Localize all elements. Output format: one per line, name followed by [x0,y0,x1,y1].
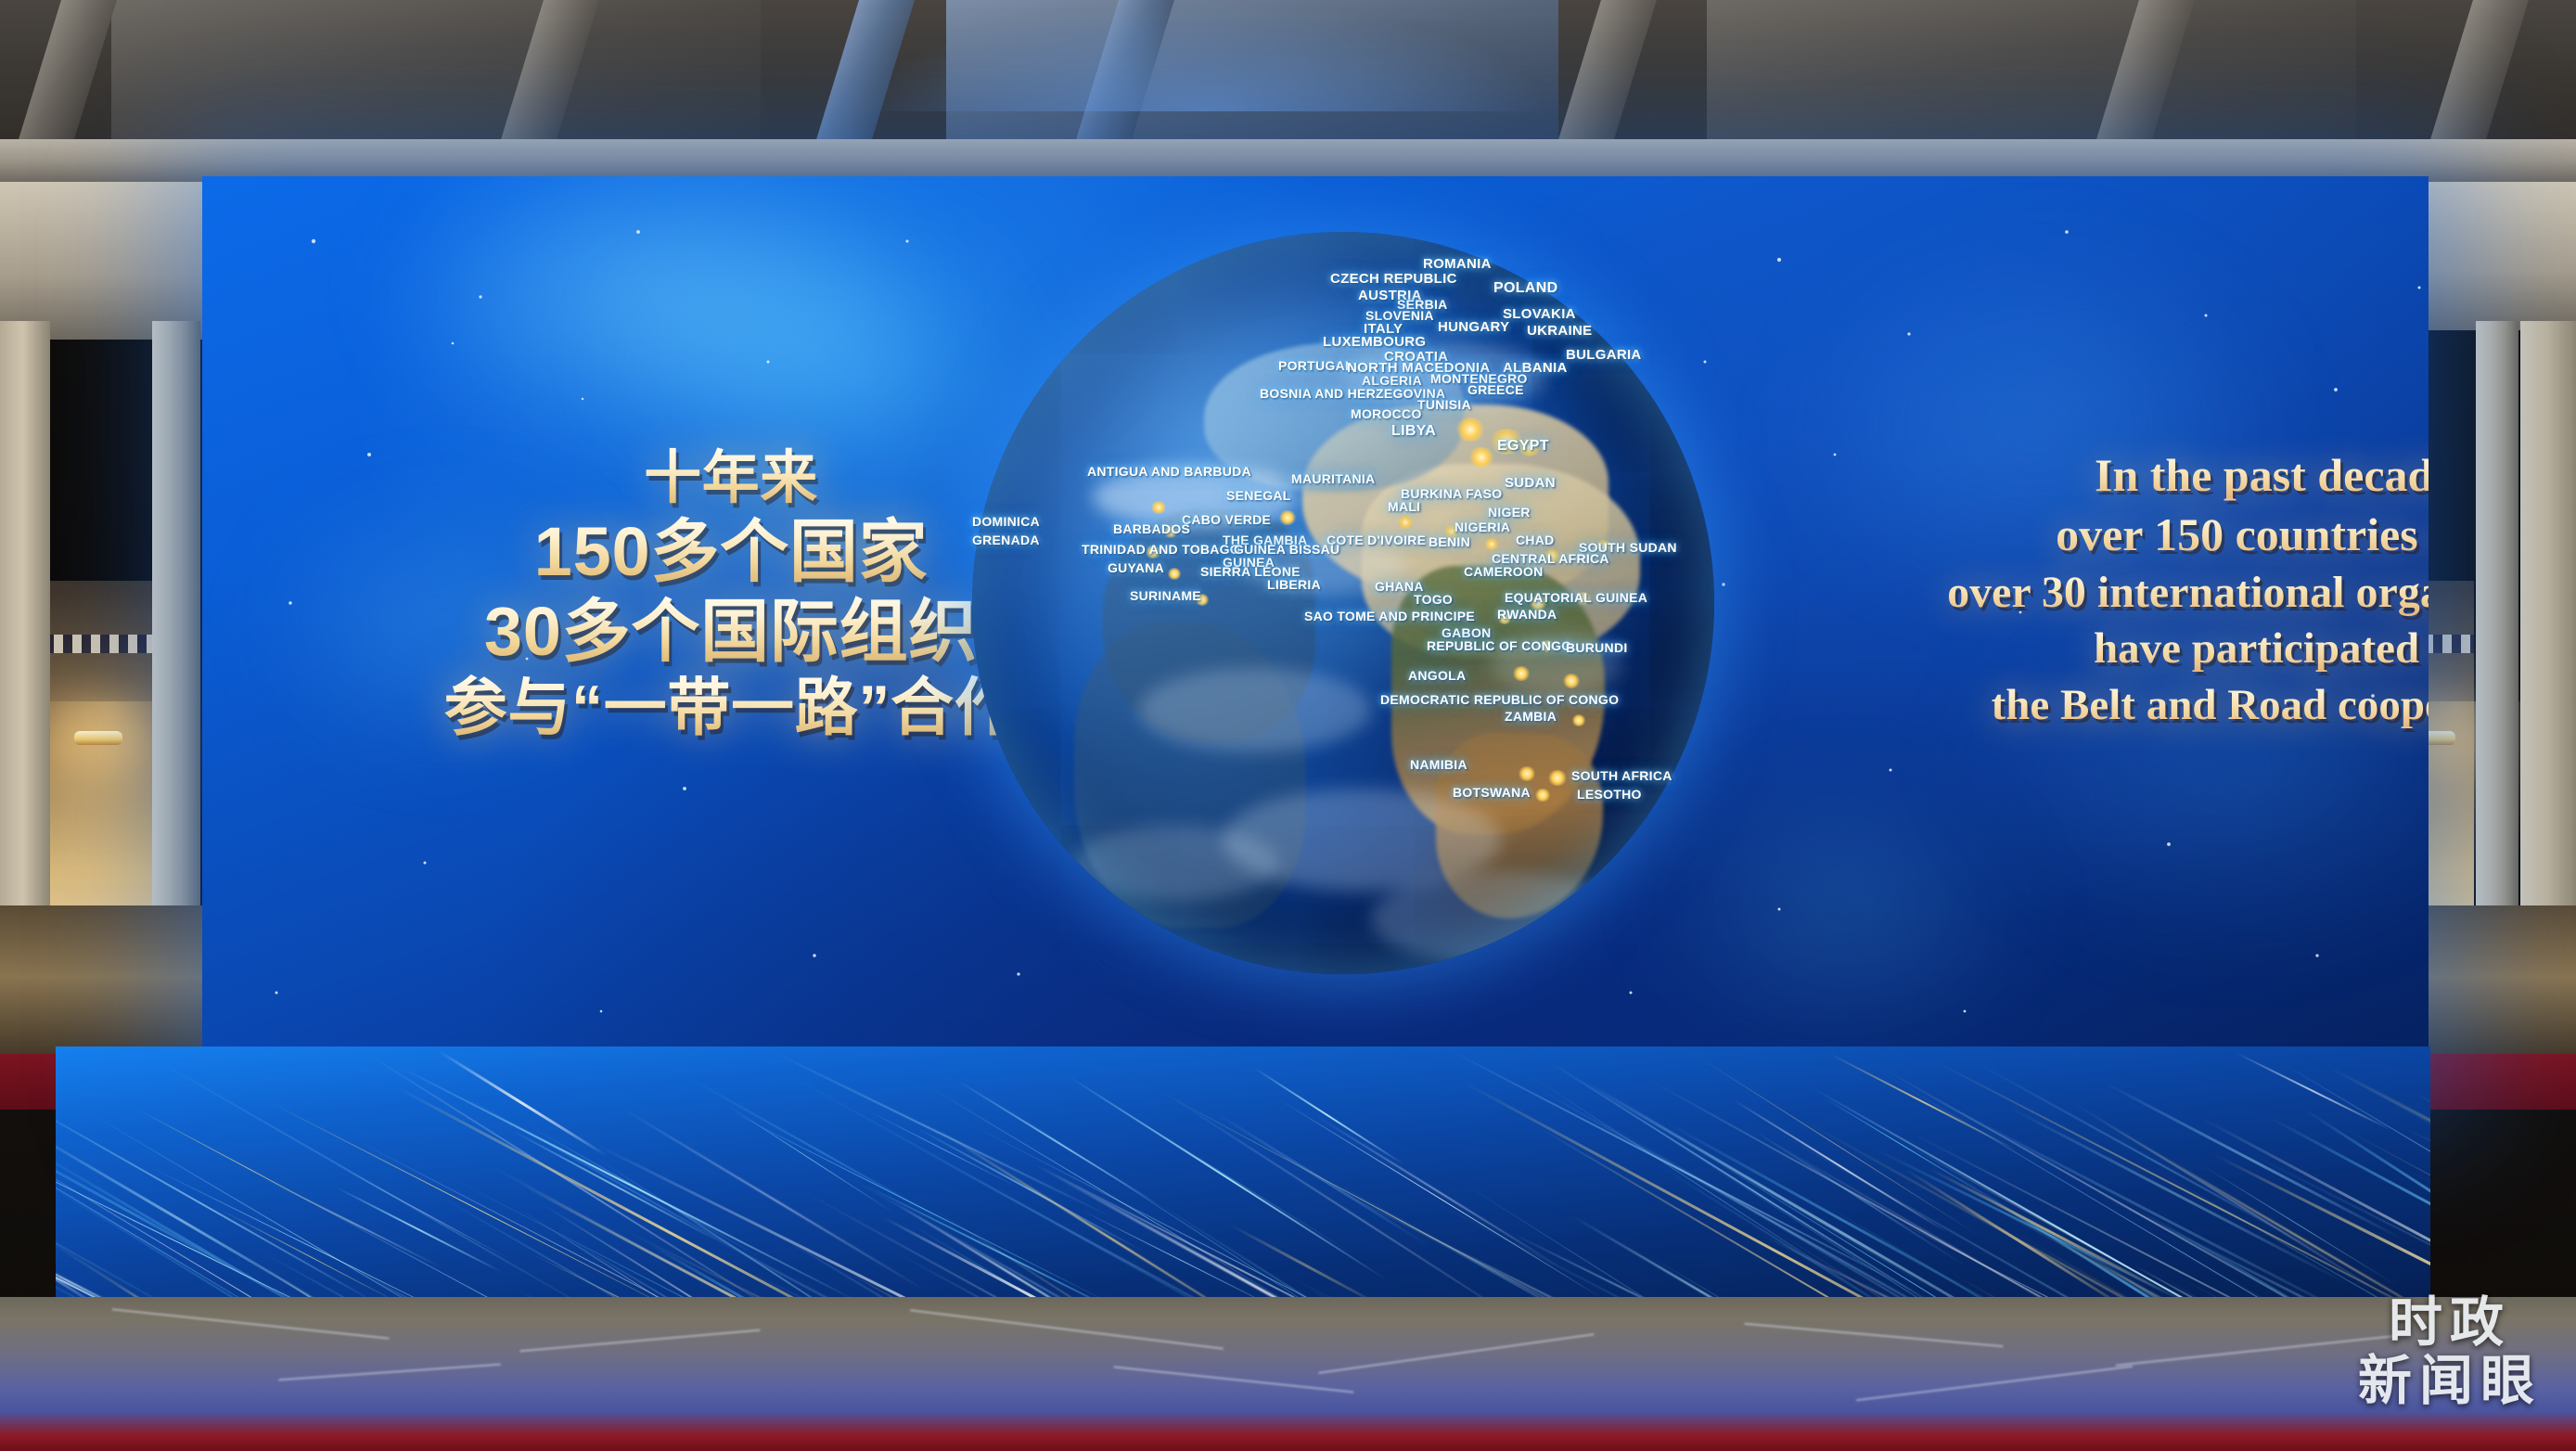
floor-light-streak [2412,1090,2430,1325]
country-label: SENEGAL [1226,488,1291,503]
country-label: BOTSWANA [1453,785,1531,800]
floor-light-streak [1154,1088,1646,1325]
country-label: BENIN [1429,534,1470,549]
country-label: ZAMBIA [1505,709,1557,724]
watermark-line-1: 时政 [2389,1296,2511,1350]
country-label: BARBADOS [1113,521,1190,536]
country-label: TRINIDAD AND TOBAGO [1082,542,1240,557]
country-label: CZECH REPUBLIC [1330,271,1457,287]
floor-light-streak [399,1066,862,1304]
country-label: EGYPT [1497,438,1549,455]
english-line-4: have participated in [1946,621,2429,676]
country-label: BULGARIA [1566,347,1642,363]
country-label: BURUNDI [1566,640,1628,655]
ceiling [0,0,2576,182]
floor-light-streak [957,1080,1163,1208]
country-label: COTE D'IVOIRE [1326,533,1426,547]
floor-light-streak [1546,1059,1969,1325]
country-label: HUNGARY [1438,319,1509,335]
country-label: UKRAINE [1527,323,1592,339]
floor-light-streak [2275,1059,2430,1299]
country-label: SAO TOME AND PRINCIPE [1304,609,1475,623]
country-label: GUYANA [1108,560,1164,575]
floor-light-streak [2236,1052,2392,1131]
country-label: SLOVAKIA [1503,306,1576,322]
english-headline: In the past decade, over 150 countries a… [1946,445,2429,733]
country-label: NIGER [1488,505,1531,520]
country-label: SOUTH AFRICA [1571,768,1672,783]
country-label: CABO VERDE [1182,512,1271,527]
country-label: SURINAME [1130,588,1201,603]
country-label: GREECE [1467,382,1524,397]
wall-sconce-icon [74,731,122,745]
floor-light-streak [1929,1167,2170,1295]
chinese-headline: 十年来 150多个国家 30多个国际组织 参与“一带一路”合作 [434,445,1028,744]
chinese-line-1: 十年来 [434,445,1028,512]
chinese-line-3: 30多个国际组织 [434,592,1028,672]
chinese-line-2: 150多个国家 [434,512,1028,592]
country-label: LUXEMBOURG [1323,334,1426,350]
country-label: ROMANIA [1423,256,1492,272]
left-corridor [0,182,213,1110]
led-video-wall: 十年来 150多个国家 30多个国际组织 参与“一带一路”合作 In the p… [202,176,2429,1090]
broadcaster-watermark: 时政 新闻眼 [2346,1296,2554,1408]
marble-floor [0,1297,2576,1451]
country-label: CAMEROON [1464,564,1543,579]
country-label: LIBYA [1391,423,1436,440]
country-label: DEMOCRATIC REPUBLIC OF CONGO [1380,692,1619,707]
english-line-2: over 150 countries and [1946,505,2429,564]
screenshot-stage: 十年来 150多个国家 30多个国际组织 参与“一带一路”合作 In the p… [0,0,2576,1451]
country-label: LIBERIA [1267,577,1321,592]
chinese-line-4: 参与“一带一路”合作 [434,672,1028,745]
country-label: DOMINICA [972,514,1040,529]
country-label: PORTUGAL [1278,358,1353,373]
country-label: LESOTHO [1577,787,1642,802]
floor-light-streak [56,1107,361,1325]
country-label: REPUBLIC OF CONGO [1427,638,1571,653]
country-label: MOROCCO [1351,406,1422,421]
floor-light-streak [56,1112,364,1325]
country-label: MAURITANIA [1291,471,1375,486]
floor-light-streak [1212,1111,1431,1248]
english-line-3: over 30 international organizations [1946,564,2429,621]
floor-light-streak [87,1111,532,1325]
stage-floor-light-streaks [56,1047,2430,1325]
country-label: RWANDA [1497,607,1557,622]
country-label: SUDAN [1505,475,1556,491]
country-label: CHAD [1516,533,1555,547]
floor-light-streak [438,1050,607,1157]
country-label: ANTIGUA AND BARBUDA [1087,464,1251,479]
country-label: TOGO [1414,592,1453,607]
ceiling-light-glow [863,0,1549,111]
globe-visualization: ROMANIACZECH REPUBLICPOLANDAUSTRIASERBIA… [972,232,1714,974]
right-corridor [2409,182,2576,1110]
english-line-1: In the past decade, [1946,445,2429,505]
country-label: POLAND [1493,280,1557,297]
floor-light-streak [867,1111,1021,1189]
country-label: ANGOLA [1408,668,1466,683]
country-label: TUNISIA [1417,397,1471,412]
country-label: MALI [1388,499,1420,514]
watermark-line-2: 新闻眼 [2358,1355,2542,1408]
country-label: NIGERIA [1455,520,1510,534]
country-label: EQUATORIAL GUINEA [1505,590,1647,605]
floor-light-streak [2198,1162,2400,1288]
floor-light-streak [1166,1094,1551,1325]
floor-light-streak [56,1124,345,1317]
english-line-5: the Belt and Road cooperation. [1946,677,2429,733]
country-label: NAMIBIA [1410,757,1467,772]
country-label: GRENADA [972,533,1040,547]
floor-light-streak [1809,1085,2343,1325]
